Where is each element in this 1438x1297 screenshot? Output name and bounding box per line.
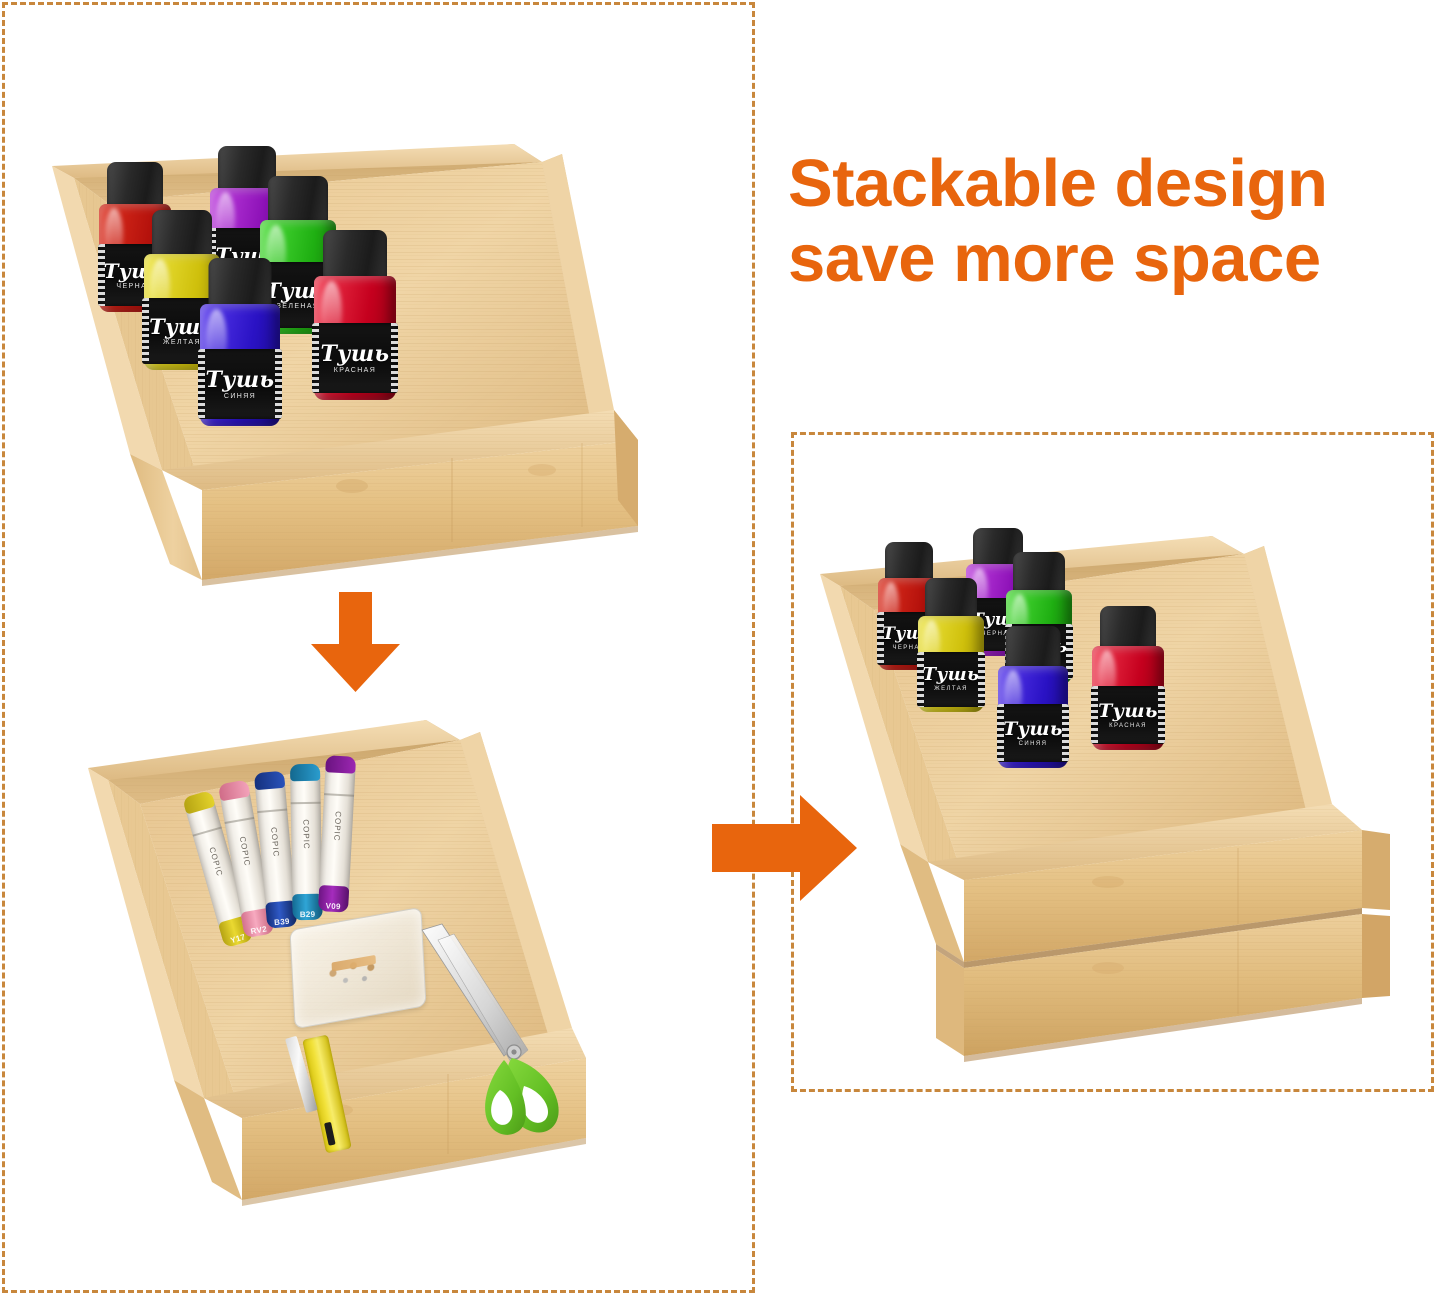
ink-bottle-red-2: Тушь КРАСНАЯ: [314, 230, 396, 400]
bottle-brand: Тушь: [1098, 702, 1158, 721]
marker-code: RV2: [250, 925, 268, 937]
marker-purple: COPIC V09: [318, 757, 356, 910]
bottle-cap-icon: [107, 162, 163, 210]
bottle-sub: СИНЯЯ: [1019, 741, 1048, 747]
bottle-label: Тушь СИНЯЯ: [198, 349, 281, 419]
tray-top-left-contents: Тушь ЧЕРНАЯ Тушь ЧЕРНАЯ: [22, 118, 662, 588]
bottle-brand: Тушь: [321, 343, 390, 365]
bottle-sub: ЗЕЛЕНАЯ: [277, 303, 320, 310]
bottle-brand: Тушь: [923, 666, 980, 684]
bottle-sub: КРАСНАЯ: [334, 367, 376, 374]
marker-code: V09: [325, 902, 341, 912]
bottle-label: Тушь ЖЕЛТАЯ: [917, 652, 986, 707]
bottle-cap-icon: [925, 578, 977, 621]
headline-line-1: Stackable design: [788, 146, 1438, 221]
bottle-sub: ЖЕЛТАЯ: [934, 686, 968, 692]
bottle-sub: СИНЯЯ: [224, 393, 256, 400]
ink-bottle-blue: Тушь СИНЯЯ: [200, 258, 280, 426]
headline-line-2: save more space: [788, 221, 1438, 296]
bottle-label: Тушь СИНЯЯ: [997, 704, 1070, 762]
ink-bottle-blue: Тушь СИНЯЯ: [998, 626, 1068, 768]
marker-code: B39: [274, 917, 290, 927]
infographic-canvas: Stackable design save more space: [0, 0, 1438, 1297]
bottle-sub: КРАСНАЯ: [1109, 723, 1147, 729]
marker-code: B29: [300, 910, 316, 919]
bottle-label: Тушь КРАСНАЯ: [1091, 686, 1166, 744]
bottle-cap-icon: [1013, 552, 1065, 595]
arrow-down-icon: [308, 592, 403, 692]
marker-brand: COPIC: [301, 819, 311, 849]
scissors: [408, 924, 598, 1144]
bottle-sub: ЖЕЛТАЯ: [163, 339, 201, 346]
tray-top-left: Тушь ЧЕРНАЯ Тушь ЧЕРНАЯ: [22, 118, 662, 588]
bottle-brand: Тушь: [1003, 720, 1063, 739]
bottle-cap-icon: [323, 230, 387, 282]
bottle-cap-icon: [885, 542, 933, 583]
tray-bottom-left-contents: COPIC Y17 COPIC RV2 COPIC: [78, 700, 658, 1170]
bottle-brand: Тушь: [206, 369, 275, 391]
ink-bottle-yellow: Тушь ЖЕЛТАЯ: [918, 578, 984, 712]
bottle-cap-icon: [268, 176, 328, 226]
bottle-cap-icon: [152, 210, 212, 260]
marker-brand: COPIC: [332, 811, 343, 842]
clip-box: [289, 907, 426, 1029]
tray-bottom-left: COPIC Y17 COPIC RV2 COPIC: [78, 700, 658, 1170]
ink-bottle-red-2: Тушь КРАСНАЯ: [1092, 606, 1164, 750]
bottle-label: Тушь КРАСНАЯ: [312, 323, 397, 393]
bottle-cap-icon: [209, 258, 272, 310]
bottle-cap-icon: [1100, 606, 1156, 651]
tray-stacked-right: Тушь ЧЕРНАЯ Тушь ЧЕРНАЯ: [808, 500, 1438, 1060]
bottle-cap-icon: [1006, 626, 1061, 671]
utility-knife: [302, 1035, 352, 1154]
headline: Stackable design save more space: [788, 146, 1438, 296]
tray-stacked-right-contents: Тушь ЧЕРНАЯ Тушь ЧЕРНАЯ: [808, 500, 1438, 1060]
